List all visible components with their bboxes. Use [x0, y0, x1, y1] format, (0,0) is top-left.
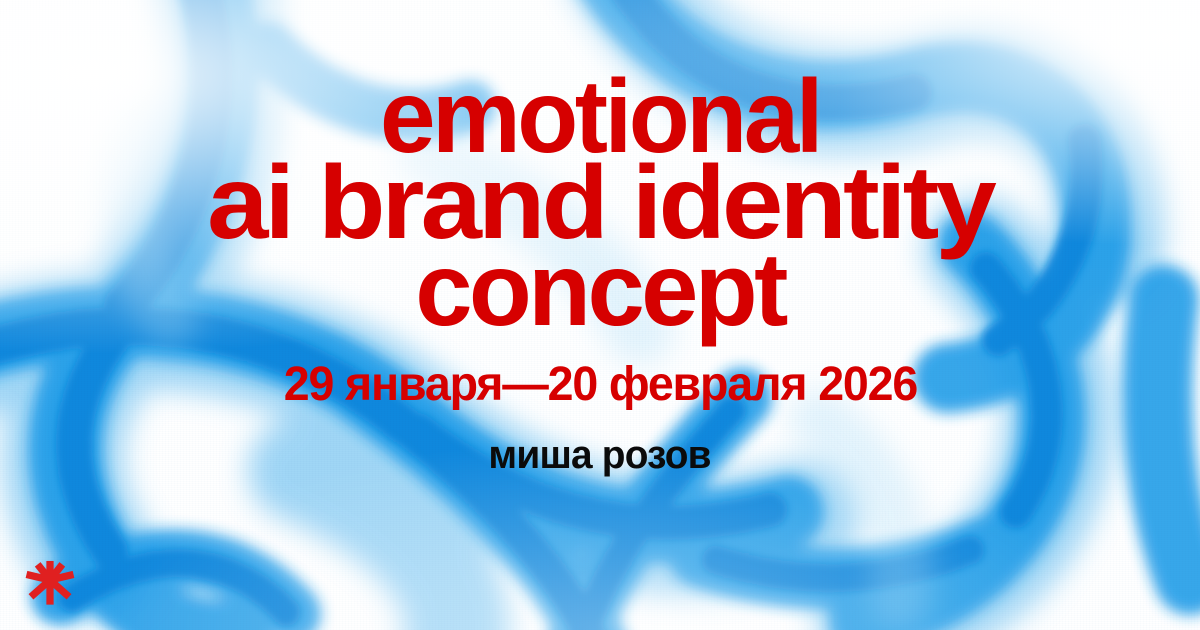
- snowflake-asterisk-icon[interactable]: [22, 552, 78, 608]
- event-dates: 29 января—20 февраля 2026: [283, 361, 916, 409]
- headline-line-3: concept: [6, 243, 1194, 339]
- poster-content: emotional ai brand identity concept 29 я…: [0, 0, 1200, 630]
- event-poster: emotional ai brand identity concept 29 я…: [0, 0, 1200, 630]
- artist-name: миша розов: [489, 435, 711, 475]
